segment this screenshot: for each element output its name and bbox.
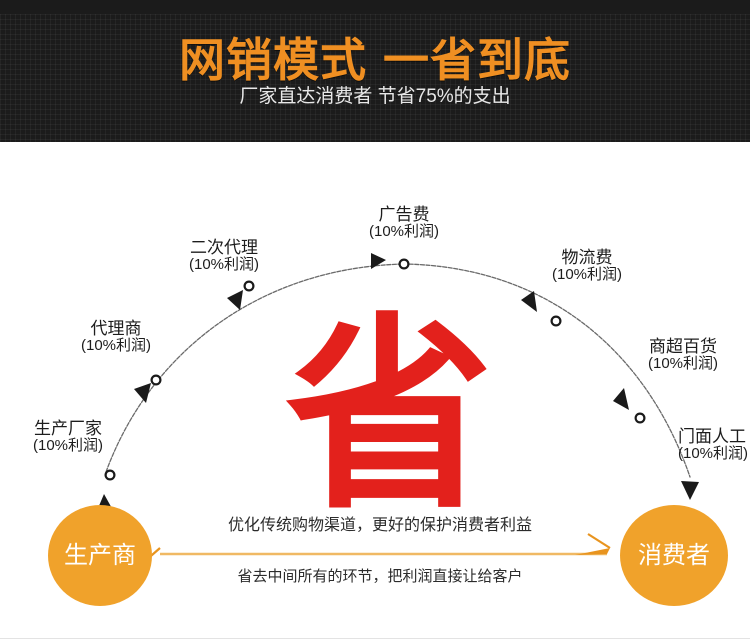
chain-node-name-4: 物流费: [524, 248, 650, 267]
chain-node-profit-6: (10%利润): [678, 446, 750, 463]
consumer-node-label: 消费者: [638, 544, 710, 568]
arrowhead-2: [227, 290, 243, 310]
chain-node-label-0: 生产厂家 (10%利润): [8, 419, 128, 455]
consumer-node: 消费者: [620, 505, 728, 606]
producer-node: 生产商: [48, 505, 152, 606]
chain-node-name-1: 代理商: [56, 319, 176, 338]
flow-caption-top: 优化传统购物渠道，更好的保护消费者利益: [170, 518, 590, 534]
node-marker-5: [636, 414, 645, 423]
headline: 网销模式一省到底: [179, 37, 571, 83]
subheadline: 厂家直达消费者 节省75%的支出: [239, 87, 510, 106]
chain-node-name-3: 广告费: [341, 205, 467, 224]
chain-node-profit-5: (10%利润): [620, 356, 746, 373]
chain-node-profit-4: (10%利润): [524, 267, 650, 284]
chain-node-profit-2: (10%利润): [161, 257, 287, 274]
chain-node-profit-1: (10%利润): [56, 338, 176, 355]
chain-node-profit-3: (10%利润): [341, 224, 467, 241]
headline-part2: 一省到底: [383, 34, 571, 86]
flow-caption-bottom: 省去中间所有的环节，把利润直接让给客户: [170, 569, 590, 584]
arrowhead-3: [371, 253, 386, 269]
flow-arrow: [144, 534, 610, 562]
chain-node-label-2: 二次代理 (10%利润): [161, 238, 287, 274]
chain-node-name-6: 门面人工: [678, 427, 750, 446]
arrowhead-6: [681, 481, 699, 500]
node-marker-1: [152, 376, 161, 385]
node-marker-4: [552, 317, 561, 326]
chain-node-name-5: 商超百货: [620, 337, 746, 356]
center-character: 省: [285, 317, 485, 527]
header-banner: 网销模式一省到底 厂家直达消费者 节省75%的支出: [0, 0, 750, 142]
chain-node-label-1: 代理商 (10%利润): [56, 319, 176, 355]
supply-chain-diagram: 省 生产厂家 (10%利润) 代理商 (10%利润) 二次代理 (10%利润) …: [0, 142, 750, 639]
chain-node-label-3: 广告费 (10%利润): [341, 205, 467, 241]
headline-part1: 网销模式: [179, 34, 367, 86]
chain-node-label-6: 门面人工 (10%利润): [678, 427, 750, 463]
arrowhead-5: [613, 388, 629, 410]
flow-arrow-head-upper: [588, 534, 610, 548]
chain-node-label-5: 商超百货 (10%利润): [620, 337, 746, 373]
producer-node-label: 生产商: [64, 544, 136, 568]
chain-node-name-2: 二次代理: [161, 238, 287, 257]
node-marker-2: [245, 282, 254, 291]
node-marker-3: [400, 260, 409, 269]
node-marker-0: [106, 471, 115, 480]
chain-node-name-0: 生产厂家: [8, 419, 128, 438]
promo-banner: 网销模式一省到底 厂家直达消费者 节省75%的支出: [0, 0, 750, 639]
header-content: 网销模式一省到底 厂家直达消费者 节省75%的支出: [0, 0, 750, 142]
chain-node-label-4: 物流费 (10%利润): [524, 248, 650, 284]
chain-node-profit-0: (10%利润): [8, 438, 128, 455]
